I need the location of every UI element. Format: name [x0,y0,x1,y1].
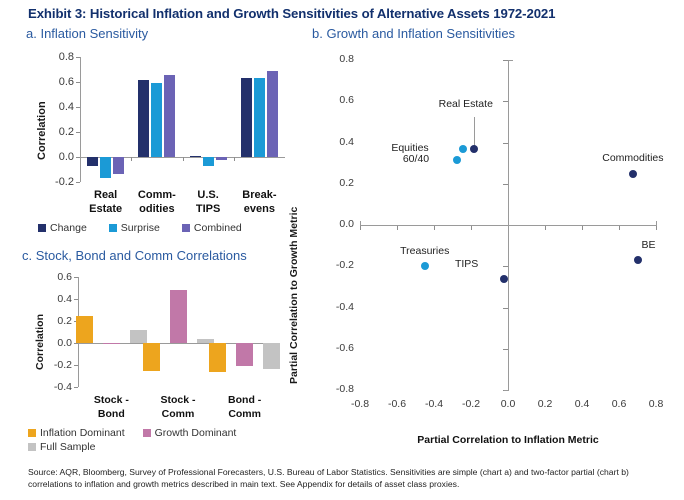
x-tick-label-panel_b-0: -0.8 [340,398,380,410]
x-tick-label-panel_b-8: 0.8 [636,398,676,410]
panel-b-title: b. Growth and Inflation Sensitivities [312,26,515,41]
y-tick-label-panel_b-6: -0.4 [318,301,354,313]
legend-swatch-surprise [109,224,117,232]
bar-panel_c-2-2 [263,343,280,369]
scatter-point-commodities [629,170,637,178]
y-tick-label-panel_a-5: -0.2 [42,176,74,188]
x-tick-label-panel_b-7: 0.6 [599,398,639,410]
x-group-tick-panel_a-0 [131,157,132,161]
bar-panel_a-2-1 [203,157,214,166]
x-group-tick-panel_a-2 [234,157,235,161]
scatter-point-equities [459,145,467,153]
legend-swatch-growth-dominant [143,429,151,437]
category-label-panel_a-3-0: Break- [214,189,304,201]
bar-panel_a-1-0 [138,80,149,158]
bar-panel_a-1-1 [151,83,162,157]
legend-swatch-inflation-dominant [28,429,36,437]
bar-panel_c-2-0 [209,343,226,372]
bar-panel_a-3-0 [241,78,252,157]
scatter-point-be [634,256,642,264]
bar-panel_c-0-2 [130,330,147,343]
source-note: Source: AQR, Bloomberg, Survey of Profes… [28,466,668,490]
legend-label-change: Change [50,222,87,234]
scatter-label-equities: Equities [309,142,429,154]
bar-panel_a-0-0 [87,157,98,166]
scatter-label-be: BE [642,239,684,251]
bar-panel_a-0-2 [113,157,124,174]
x-tick-label-panel_b-1: -0.6 [377,398,417,410]
legend-item-panel_c-0: Inflation Dominant [28,427,125,439]
x-tick-label-panel_b-2: -0.4 [414,398,454,410]
y-tick-label-panel_c-5: -0.4 [40,381,72,393]
exhibit-title: Exhibit 3: Historical Inflation and Grow… [28,6,555,21]
y-tick-label-panel_b-8: -0.8 [318,383,354,395]
legend-item-panel_c-1: Growth Dominant [143,427,237,439]
bar-panel_a-2-2 [216,157,227,160]
bar-panel_c-0-1 [103,343,120,344]
legend-swatch-full-sample [28,443,36,451]
y-tick-label-panel_a-0: 0.8 [42,51,74,63]
y-tick-mark-panel_c-5 [74,387,78,388]
panel-c-title: c. Stock, Bond and Comm Correlations [22,248,247,263]
bar-panel_a-3-2 [267,71,278,157]
y-tick-label-panel_b-4: 0.0 [318,218,354,230]
y-tick-label-panel_b-0: 0.8 [318,53,354,65]
legend-label-growth-dominant: Growth Dominant [155,427,237,439]
x-axis-right-cap-panel_b [656,221,657,226]
legend-label-full-sample: Full Sample [40,441,95,453]
legend-item-panel_a-1: Surprise [109,222,160,234]
bar-panel_c-1-0 [143,343,160,371]
bar-panel_a-1-2 [164,75,175,158]
panel-a-title: a. Inflation Sensitivity [26,26,148,41]
y-tick-label-panel_b-5: -0.2 [318,259,354,271]
y-tick-label-panel_b-3: 0.2 [318,177,354,189]
legend-row-panel_a-0: ChangeSurpriseCombined [38,222,264,234]
x-tick-label-panel_b-6: 0.4 [562,398,602,410]
legend-row-panel_c-0: Inflation DominantGrowth Dominant [28,427,254,439]
scatter-label-tips: TIPS [358,258,478,270]
y-tick-label-panel_a-2: 0.4 [42,101,74,113]
bar-panel_a-3-1 [254,78,265,157]
y-axis-spine-panel_a [80,57,81,182]
leader-line-real-estate [474,117,475,149]
legend-item-panel_a-2: Combined [182,222,242,234]
bar-panel_c-1-1 [170,290,187,343]
scatter-label-treasuries: Treasuries [365,245,485,257]
axis-label-x-panel_b: Partial Correlation to Inflation Metric [320,434,684,446]
legend-item-panel_a-0: Change [38,222,87,234]
scatter-label-commodities: Commodities [573,152,684,164]
x-tick-label-panel_b-5: 0.2 [525,398,565,410]
legend-label-inflation-dominant: Inflation Dominant [40,427,125,439]
legend-row-panel_c-1: Full Sample [28,441,113,453]
legend-label-combined: Combined [194,222,242,234]
legend-label-surprise: Surprise [121,222,160,234]
x-tick-label-panel_b-3: -0.2 [451,398,491,410]
y-tick-label-panel_c-1: 0.4 [40,293,72,305]
y-tick-label-panel_b-7: -0.6 [318,342,354,354]
y-tick-label-panel_c-0: 0.6 [40,271,72,283]
x-axis-left-cap-panel_b [360,221,361,226]
legend-swatch-change [38,224,46,232]
legend-swatch-combined [182,224,190,232]
y-tick-label-panel_a-1: 0.6 [42,76,74,88]
x-group-tick-panel_a-1 [183,157,184,161]
category-label-panel_c-2-0: Bond - [200,394,290,406]
scatter-point-real-estate [470,145,478,153]
legend-item-panel_c-2: Full Sample [28,441,95,453]
scatter-point-tips [500,275,508,283]
scatter-label-real-estate: Real Estate [406,98,526,110]
bar-panel_c-0-0 [76,316,93,344]
bar-panel_a-0-1 [100,157,111,178]
y-tick-label-panel_c-2: 0.2 [40,315,72,327]
y-axis-bottom-cap-panel_b [504,390,509,391]
category-label-panel_c-2-1: Comm [200,408,290,420]
y-tick-label-panel_c-4: -0.2 [40,359,72,371]
axis-label-y-panel_b: Partial Correlation to Growth Metric [288,207,300,384]
y-axis-top-cap-panel_b [508,60,513,61]
scatter-label-60-40: 60/40 [309,153,429,165]
y-tick-label-panel_b-1: 0.6 [318,94,354,106]
scatter-point-60-40 [453,156,461,164]
bar-panel_a-2-0 [190,156,201,157]
y-tick-mark-panel_a-5 [76,182,80,183]
x-tick-label-panel_b-4: 0.0 [488,398,528,410]
y-tick-label-panel_a-4: 0.0 [42,151,74,163]
y-tick-label-panel_a-3: 0.2 [42,126,74,138]
y-tick-label-panel_c-3: 0.0 [40,337,72,349]
bar-panel_c-2-1 [236,343,253,366]
